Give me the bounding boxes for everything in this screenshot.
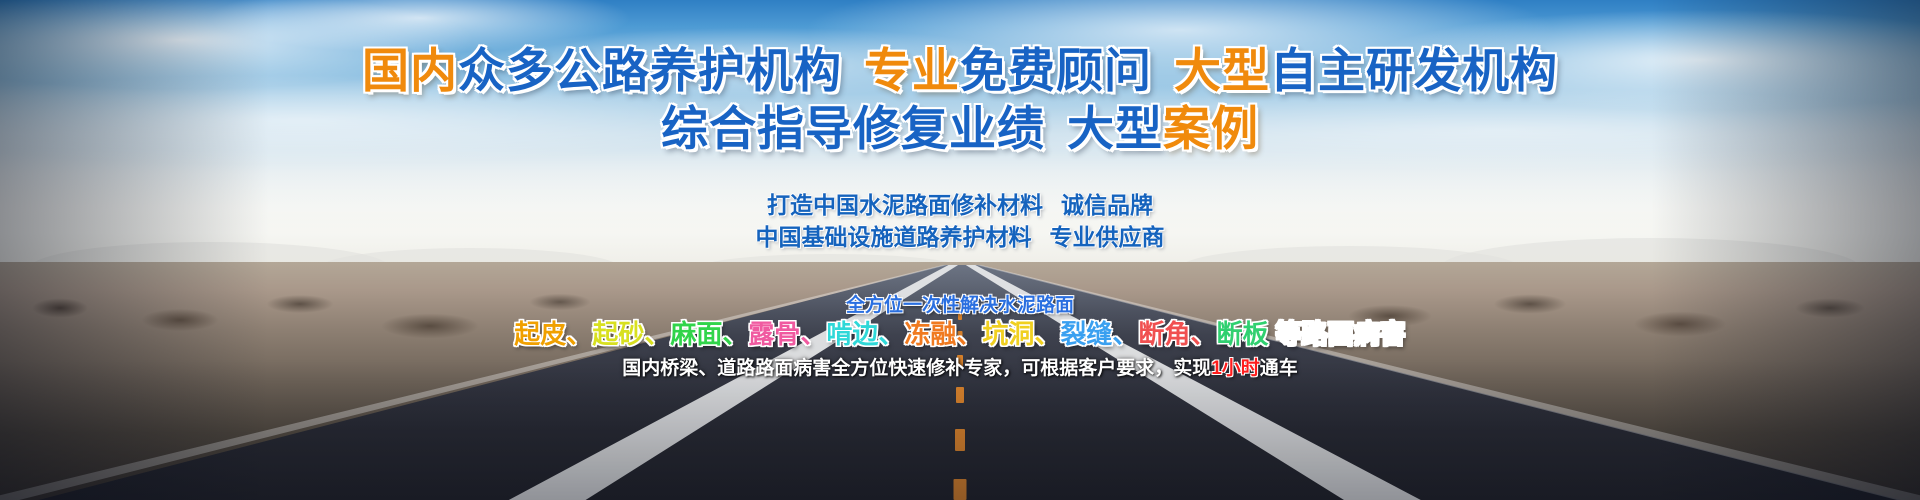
promo-banner: 国内众多公路养护机构专业免费顾问大型自主研发机构 综合指导修复业绩大型案例 打造… [0,0,1920,500]
headline-seg-free-consult: 免费顾问 [960,44,1152,97]
defect-item-8: 断角、 [1138,319,1216,349]
headline-seg-case-study: 案例 [1163,102,1259,155]
subtitle-2-right: 专业供应商 [1050,224,1165,250]
subtitle-1-left: 打造中国水泥路面修补材料 [767,192,1043,218]
subtitle-2-left: 中国基础设施道路养护材料 [756,224,1032,250]
subtitle-line-1: 打造中国水泥路面修补材料诚信品牌 [0,190,1920,221]
defect-item-6: 坑洞、 [982,319,1060,349]
headline-seg-large-scale: 大型 [1174,44,1270,97]
headline-seg-agencies: 众多公路养护机构 [458,44,842,97]
headline-seg-large-scale-2: 大型 [1067,102,1163,155]
banner-content: 国内众多公路养护机构专业免费顾问大型自主研发机构 综合指导修复业绩大型案例 打造… [0,0,1920,500]
defect-item-1: 起砂、 [592,319,670,349]
road-text-3-pre: 国内桥梁、道路路面病害全方位快速修补专家，可根据客户要求，实现 [622,358,1211,379]
headline-line-1: 国内众多公路养护机构专业免费顾问大型自主研发机构 [0,42,1920,100]
headline-line-2: 综合指导修复业绩大型案例 [0,100,1920,158]
subtitle-line-2: 中国基础设施道路养护材料专业供应商 [0,222,1920,253]
road-text-line-1: 全方位一次性解决水泥路面 [0,294,1920,318]
defect-item-10: 等路面病害 [1268,319,1405,349]
road-text-3-highlight: 1小时 [1211,358,1260,379]
defect-item-2: 麻面、 [670,319,748,349]
headline-seg-professional: 专业 [864,44,960,97]
road-defect-list: 起皮、起砂、麻面、露骨、啃边、冻融、坑洞、裂缝、断角、断板 等路面病害 [0,318,1920,351]
headline-seg-repair-record: 综合指导修复业绩 [661,102,1045,155]
road-text-3-post: 通车 [1260,358,1298,379]
defect-item-3: 露骨、 [748,319,826,349]
subtitle-1-right: 诚信品牌 [1061,192,1153,218]
defect-item-0: 起皮、 [514,319,592,349]
defect-item-7: 裂缝、 [1060,319,1138,349]
headline-seg-rnd-org: 自主研发机构 [1270,44,1558,97]
defect-item-9: 断板 [1216,319,1268,349]
road-text-line-3: 国内桥梁、道路路面病害全方位快速修补专家，可根据客户要求，实现1小时通车 [0,356,1920,382]
defect-item-4: 啃边、 [826,319,904,349]
headline-seg-domestic: 国内 [362,44,458,97]
defect-item-5: 冻融、 [904,319,982,349]
